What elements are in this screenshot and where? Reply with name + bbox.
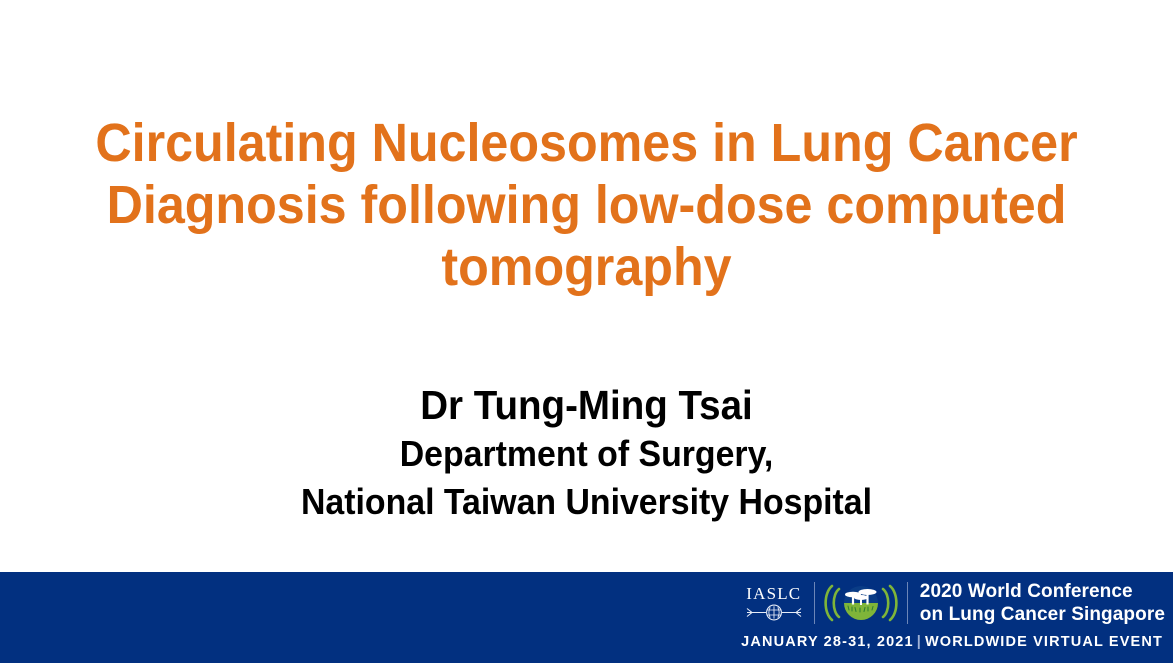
presenter-name: Dr Tung-Ming Tsai [35,380,1138,430]
conference-title-line-2: on Lung Cancer Singapore [920,603,1165,626]
footer-band: IASLC [0,572,1173,663]
title-line-2: Diagnosis following low-dose computed [41,174,1132,236]
conference-title: 2020 World Conference on Lung Cancer Sin… [908,580,1165,626]
dateline-event-type: WORLDWIDE VIRTUAL EVENT [925,634,1163,650]
iaslc-logo: IASLC [744,585,814,621]
presenter-affiliation-line-1: Department of Surgery, [35,430,1138,478]
iaslc-emblem-icon [746,604,802,621]
slide-title: Circulating Nucleosomes in Lung Cancer D… [0,112,1173,298]
conference-logo-lockup: IASLC [741,578,1165,650]
logo-divider-left [814,582,815,624]
footer-dateline: JANUARY 28-31, 2021|WORLDWIDE VIRTUAL EV… [741,634,1165,650]
presenter-affiliation-line-2: National Taiwan University Hospital [35,478,1138,526]
dateline-dates: JANUARY 28-31, 2021 [741,634,914,650]
iaslc-wordmark: IASLC [746,585,801,603]
logo-row: IASLC [744,578,1165,628]
title-line-1: Circulating Nucleosomes in Lung Cancer [41,112,1132,174]
title-line-3: tomography [41,236,1132,298]
presenter-block: Dr Tung-Ming Tsai Department of Surgery,… [0,380,1173,526]
conference-title-line-1: 2020 World Conference [920,580,1165,603]
supertree-soundwave-icon [821,580,901,626]
dateline-separator: | [914,634,925,650]
presentation-slide: Circulating Nucleosomes in Lung Cancer D… [0,0,1173,663]
